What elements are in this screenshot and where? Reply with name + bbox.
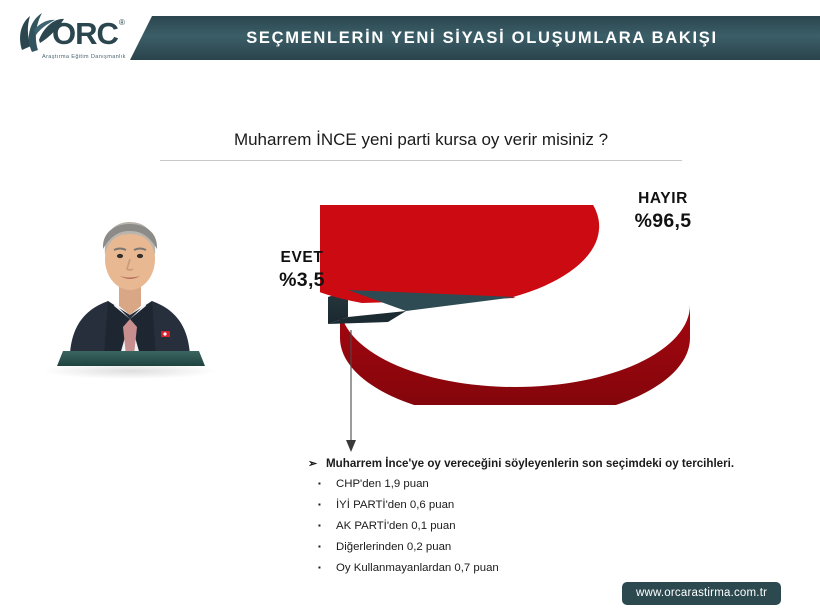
list-item-text: Oy Kullanmayanlardan 0,7 puan bbox=[336, 559, 499, 577]
notes-list: ➢ Muharrem İnce'ye oy vereceğini söyleye… bbox=[308, 455, 778, 580]
pie-slice-hayir-side bbox=[340, 305, 690, 405]
callout-arrow-icon bbox=[340, 330, 364, 455]
list-item: ▪ İYİ PARTİ'den 0,6 puan bbox=[318, 496, 778, 514]
page-title: Muharrem İNCE yeni parti kursa oy verir … bbox=[160, 130, 682, 150]
header-banner: SEÇMENLERİN YENİ SİYASİ OLUŞUMLARA BAKIŞ… bbox=[130, 16, 820, 60]
question-block: Muharrem İNCE yeni parti kursa oy verir … bbox=[160, 130, 682, 161]
pie-slice-hayir-top bbox=[320, 205, 599, 303]
orc-logo: ORC ® Araştırma Eğitim Danışmanlık bbox=[8, 10, 138, 68]
orc-registered-mark: ® bbox=[119, 18, 125, 27]
footer-website-url[interactable]: www.orcarastirma.com.tr bbox=[622, 582, 781, 605]
list-item-text: AK PARTİ'den 0,1 puan bbox=[336, 517, 456, 535]
arrow-bullet-icon: ➢ bbox=[308, 455, 326, 473]
pie-label-hayir-name: HAYIR bbox=[608, 190, 718, 208]
list-item-text: İYİ PARTİ'den 0,6 puan bbox=[336, 496, 454, 514]
list-item: ▪ Oy Kullanmayanlardan 0,7 puan bbox=[318, 559, 778, 577]
header-title: SEÇMENLERİN YENİ SİYASİ OLUŞUMLARA BAKIŞ… bbox=[232, 29, 718, 48]
pie-label-evet: EVET %3,5 bbox=[252, 249, 352, 292]
pie-label-evet-value: %3,5 bbox=[252, 269, 352, 292]
title-divider bbox=[160, 160, 682, 161]
list-item: ▪ Diğerlerinden 0,2 puan bbox=[318, 538, 778, 556]
notes-heading-text: Muharrem İnce'ye oy vereceğini söyleyenl… bbox=[326, 455, 734, 473]
square-bullet-icon: ▪ bbox=[318, 517, 336, 535]
photo-shadow bbox=[44, 363, 216, 379]
list-item-text: Diğerlerinden 0,2 puan bbox=[336, 538, 451, 556]
list-item: ▪ CHP'den 1,9 puan bbox=[318, 475, 778, 493]
pie-label-evet-name: EVET bbox=[252, 249, 352, 267]
pie-label-hayir-value: %96,5 bbox=[608, 210, 718, 233]
candidate-photo bbox=[40, 203, 220, 388]
pie-chart-svg bbox=[320, 205, 700, 405]
notes-heading-row: ➢ Muharrem İnce'ye oy vereceğini söyleye… bbox=[308, 455, 778, 473]
orc-logo-text: ORC bbox=[52, 16, 118, 52]
page-header: ORC ® Araştırma Eğitim Danışmanlık SEÇME… bbox=[0, 0, 820, 78]
square-bullet-icon: ▪ bbox=[318, 475, 336, 493]
orc-logo-tagline: Araştırma Eğitim Danışmanlık bbox=[42, 54, 126, 60]
pie-chart bbox=[320, 205, 700, 405]
square-bullet-icon: ▪ bbox=[318, 496, 336, 514]
list-item: ▪ AK PARTİ'den 0,1 puan bbox=[318, 517, 778, 535]
list-item-text: CHP'den 1,9 puan bbox=[336, 475, 429, 493]
square-bullet-icon: ▪ bbox=[318, 538, 336, 556]
square-bullet-icon: ▪ bbox=[318, 559, 336, 577]
pie-label-hayir: HAYIR %96,5 bbox=[608, 190, 718, 233]
